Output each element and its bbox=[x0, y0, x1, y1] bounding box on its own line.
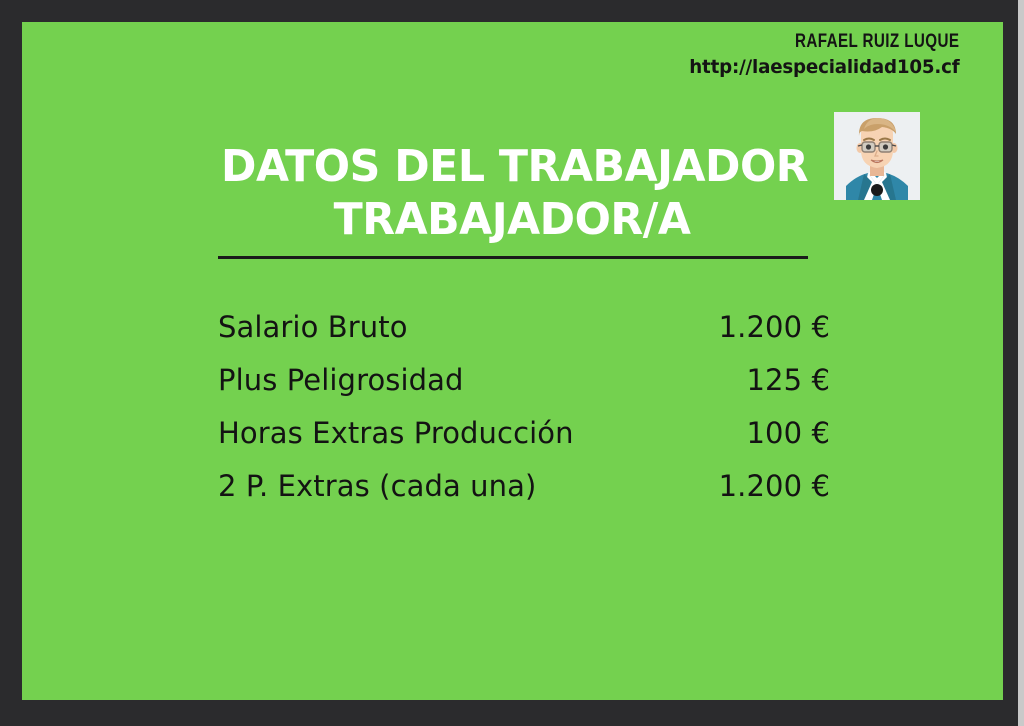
slide-title: DATOS DEL TRABAJADOR TRABAJADOR/A bbox=[212, 140, 812, 246]
author-website-url: http://laespecialidad105.cf bbox=[689, 58, 959, 77]
data-row: Plus Peligrosidad 125 € bbox=[218, 363, 830, 416]
author-name: RAFAEL RUIZ LUQUE bbox=[734, 32, 959, 51]
data-row-value: 100 € bbox=[746, 416, 830, 450]
data-row-value: 1.200 € bbox=[719, 310, 830, 344]
data-row: 2 P. Extras (cada una) 1.200 € bbox=[218, 469, 830, 522]
avatar-illustration bbox=[834, 112, 920, 200]
presentation-slide: RAFAEL RUIZ LUQUE http://laespecialidad1… bbox=[22, 22, 1003, 700]
data-row-label: 2 P. Extras (cada una) bbox=[218, 469, 536, 503]
data-row-label: Salario Bruto bbox=[218, 310, 408, 344]
right-edge-strip bbox=[1018, 0, 1024, 726]
data-row-label: Plus Peligrosidad bbox=[218, 363, 464, 397]
data-row-value: 125 € bbox=[746, 363, 830, 397]
author-avatar bbox=[834, 112, 920, 200]
data-row: Horas Extras Producción 100 € bbox=[218, 416, 830, 469]
data-row: Salario Bruto 1.200 € bbox=[218, 310, 830, 363]
author-header: RAFAEL RUIZ LUQUE http://laespecialidad1… bbox=[678, 32, 959, 77]
data-row-label: Horas Extras Producción bbox=[218, 416, 574, 450]
worker-data-list: Salario Bruto 1.200 € Plus Peligrosidad … bbox=[218, 310, 830, 522]
slide-title-line-1: DATOS DEL TRABAJADOR bbox=[221, 140, 803, 193]
slide-title-line-2: TRABAJADOR/A bbox=[221, 193, 803, 246]
screenshot-canvas: RAFAEL RUIZ LUQUE http://laespecialidad1… bbox=[0, 0, 1024, 726]
title-divider bbox=[218, 256, 808, 259]
data-row-value: 1.200 € bbox=[719, 469, 830, 503]
